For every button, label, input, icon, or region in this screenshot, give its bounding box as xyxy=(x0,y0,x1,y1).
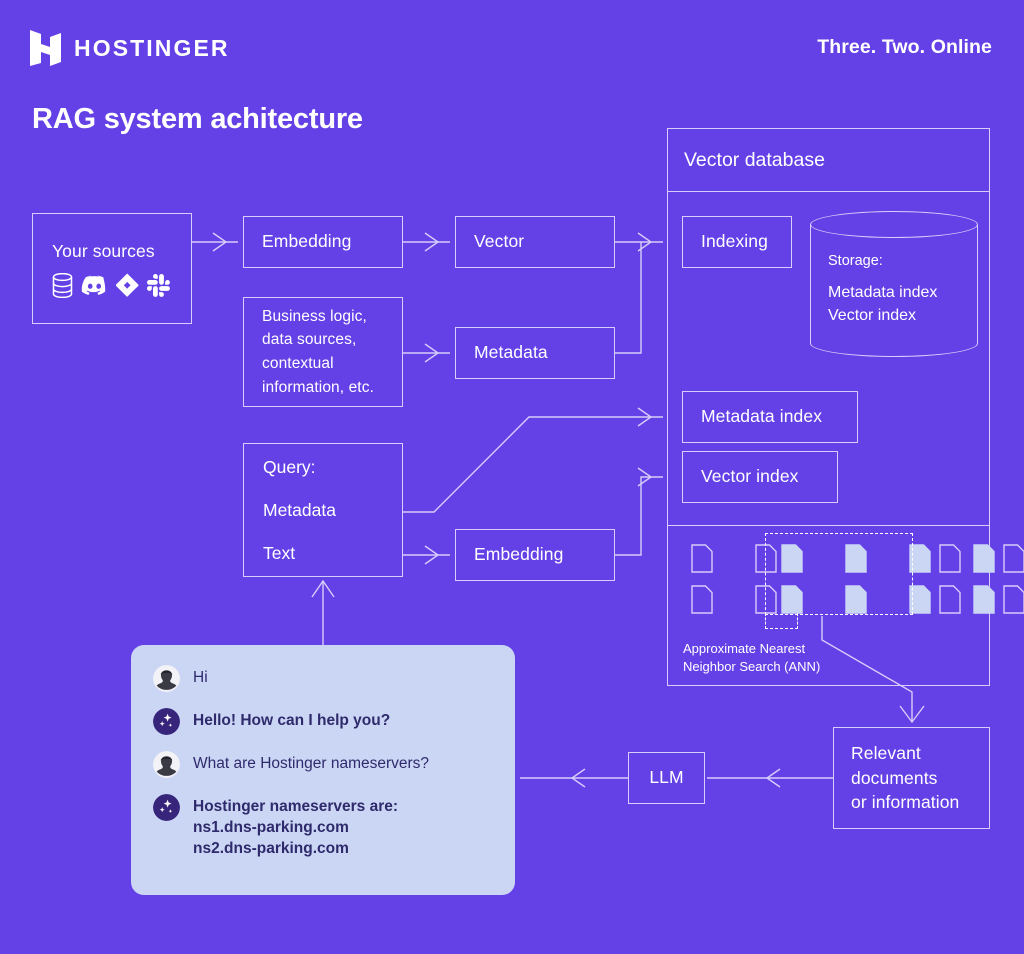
node-query[interactable]: Query: Metadata Text xyxy=(243,443,403,577)
ann-caption: Approximate Nearest Neighbor Search (ANN… xyxy=(683,640,820,677)
page-title: RAG system achitecture xyxy=(32,103,363,136)
node-embedding-query[interactable]: Embedding xyxy=(455,529,615,581)
node-label: Your sources xyxy=(52,239,172,264)
vector-database-header: Vector database xyxy=(668,129,989,192)
panel-divider xyxy=(668,525,989,526)
node-label: Relevant documents or information xyxy=(851,741,972,816)
hostinger-logo: HOSTINGER xyxy=(30,30,230,66)
node-vector[interactable]: Vector xyxy=(455,216,615,268)
document-icon xyxy=(1003,544,1024,573)
database-icon xyxy=(52,273,73,298)
doc-grid-right xyxy=(939,544,1024,614)
query-line-text: Text xyxy=(263,543,383,564)
node-label: LLM xyxy=(649,765,683,790)
node-label: Vector index xyxy=(701,464,819,489)
jira-icon xyxy=(116,273,139,297)
hostinger-h-mark xyxy=(30,30,61,66)
ann-selection-box[interactable] xyxy=(765,533,913,615)
node-label: Indexing xyxy=(701,229,773,254)
node-relevant-documents[interactable]: Relevant documents or information xyxy=(833,727,990,829)
storage-row-metadata: Metadata index xyxy=(828,281,937,304)
node-label: Vector xyxy=(474,229,596,254)
document-icon xyxy=(939,544,961,573)
node-your-sources[interactable]: Your sources xyxy=(32,213,192,324)
document-icon xyxy=(691,585,713,614)
document-icon xyxy=(1003,585,1024,614)
chat-message-text: What are Hostinger nameservers? xyxy=(193,751,429,775)
node-label: Embedding xyxy=(262,229,384,254)
chat-message-text: Hello! How can I help you? xyxy=(193,708,390,732)
node-llm[interactable]: LLM xyxy=(628,752,705,804)
chat-message-row: Hostinger nameservers are: ns1.dns-parki… xyxy=(153,794,493,860)
node-metadata-index[interactable]: Metadata index xyxy=(682,391,858,443)
chat-message-row: Hi xyxy=(153,665,493,692)
user-avatar xyxy=(153,665,180,692)
ai-sparkle-avatar xyxy=(153,708,180,735)
ann-selection-tail xyxy=(765,613,798,629)
node-vector-index[interactable]: Vector index xyxy=(682,451,838,503)
slack-icon xyxy=(147,274,170,297)
vector-database-title: Vector database xyxy=(684,149,825,172)
node-metadata[interactable]: Metadata xyxy=(455,327,615,379)
chat-message-row: Hello! How can I help you? xyxy=(153,708,493,735)
ai-sparkle-avatar xyxy=(153,794,180,821)
chat-message-text: Hi xyxy=(193,665,208,689)
tagline: Three. Two. Online xyxy=(817,36,992,59)
node-label: Business logic, data sources, contextual… xyxy=(262,305,384,399)
logo-wordmark: HOSTINGER xyxy=(74,35,230,62)
node-indexing[interactable]: Indexing xyxy=(682,216,792,268)
storage-text: Storage: Metadata index Vector index xyxy=(828,253,937,327)
node-embedding-source[interactable]: Embedding xyxy=(243,216,403,268)
node-business-logic[interactable]: Business logic, data sources, contextual… xyxy=(243,297,403,407)
document-icon xyxy=(939,585,961,614)
query-line-metadata: Metadata xyxy=(263,500,383,521)
query-line-heading: Query: xyxy=(263,457,383,478)
node-label: Embedding xyxy=(474,542,596,567)
storage-cylinder: Storage: Metadata index Vector index xyxy=(810,211,978,357)
cylinder-top-ellipse xyxy=(810,211,978,238)
node-label: Metadata xyxy=(474,340,596,365)
document-icon xyxy=(691,544,713,573)
source-icon-row xyxy=(52,273,172,298)
chat-panel: HiHello! How can I help you?What are Hos… xyxy=(131,645,515,895)
storage-heading: Storage: xyxy=(828,253,937,269)
user-avatar xyxy=(153,751,180,778)
chat-message-text: Hostinger nameservers are: ns1.dns-parki… xyxy=(193,794,398,860)
storage-row-vector: Vector index xyxy=(828,304,937,327)
node-label: Metadata index xyxy=(701,404,839,429)
discord-icon xyxy=(81,275,108,296)
chat-message-row: What are Hostinger nameservers? xyxy=(153,751,493,778)
diagram-canvas: HOSTINGER Three. Two. Online RAG system … xyxy=(0,0,1024,954)
